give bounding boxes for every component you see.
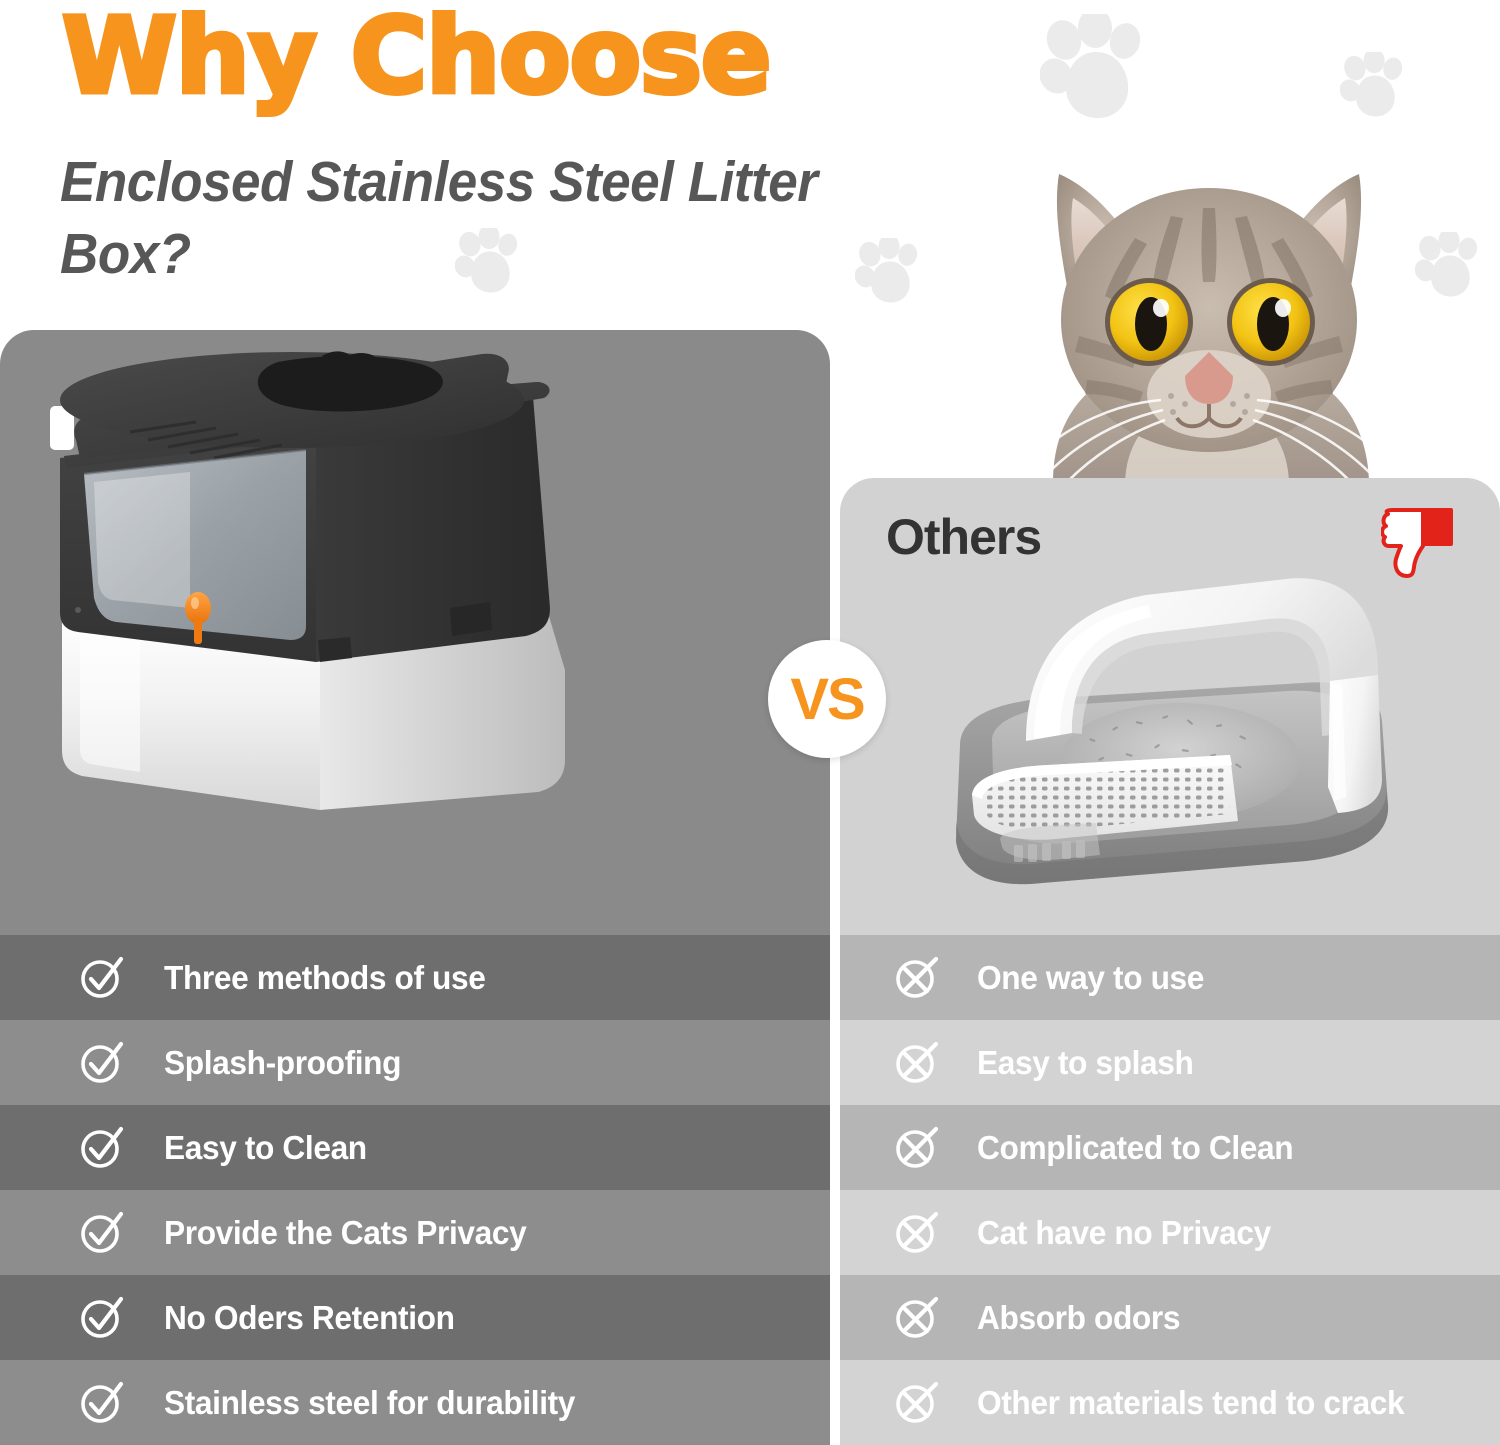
x-circle-icon	[895, 1211, 939, 1255]
table-row: Stainless steel for durability	[0, 1360, 830, 1445]
table-row: Easy to Clean	[0, 1105, 830, 1190]
ours-feature-label: Stainless steel for durability	[164, 1384, 575, 1422]
x-circle-icon	[895, 1126, 939, 1170]
ours-feature-label: No Oders Retention	[164, 1299, 455, 1337]
others-feature-label: Cat have no Privacy	[977, 1214, 1271, 1252]
page-title: Why Choose	[62, 4, 770, 108]
others-feature-label: Other materials tend to crack	[977, 1384, 1404, 1422]
ours-feature-label: Provide the Cats Privacy	[164, 1214, 526, 1252]
table-row: Splash-proofing	[0, 1020, 830, 1105]
table-row: No Oders Retention	[0, 1275, 830, 1360]
check-circle-icon	[80, 1381, 124, 1425]
others-feature-label: Absorb odors	[977, 1299, 1180, 1337]
others-feature-label: Easy to splash	[977, 1044, 1193, 1082]
vs-label: VS	[790, 666, 863, 733]
others-feature-list: One way to useEasy to splashComplicated …	[840, 935, 1500, 1445]
others-feature-label: Complicated to Clean	[977, 1129, 1293, 1167]
ours-feature-list: Three methods of useSplash-proofingEasy …	[0, 935, 830, 1445]
ours-product-image	[20, 340, 620, 840]
table-row: Provide the Cats Privacy	[0, 1190, 830, 1275]
x-circle-icon	[895, 1296, 939, 1340]
check-circle-icon	[80, 1041, 124, 1085]
table-row: Cat have no Privacy	[840, 1190, 1500, 1275]
check-circle-icon	[80, 1211, 124, 1255]
page-subtitle: Enclosed Stainless Steel Litter Box?	[60, 146, 832, 290]
ours-feature-label: Easy to Clean	[164, 1129, 367, 1167]
x-circle-icon	[895, 956, 939, 1000]
vs-badge: VS	[768, 640, 886, 758]
table-row: Three methods of use	[0, 935, 830, 1020]
ours-feature-label: Splash-proofing	[164, 1044, 401, 1082]
check-circle-icon	[80, 956, 124, 1000]
check-circle-icon	[80, 1126, 124, 1170]
others-panel: Others	[840, 478, 1500, 935]
cat-photo	[975, 112, 1435, 482]
table-row: Easy to splash	[840, 1020, 1500, 1105]
table-row: Complicated to Clean	[840, 1105, 1500, 1190]
ours-panel: Ours	[0, 330, 830, 935]
table-row: One way to use	[840, 935, 1500, 1020]
ours-feature-label: Three methods of use	[164, 959, 486, 997]
others-product-image	[930, 533, 1410, 903]
table-row: Other materials tend to crack	[840, 1360, 1500, 1445]
x-circle-icon	[895, 1381, 939, 1425]
others-feature-label: One way to use	[977, 959, 1204, 997]
table-row: Absorb odors	[840, 1275, 1500, 1360]
x-circle-icon	[895, 1041, 939, 1085]
check-circle-icon	[80, 1296, 124, 1340]
